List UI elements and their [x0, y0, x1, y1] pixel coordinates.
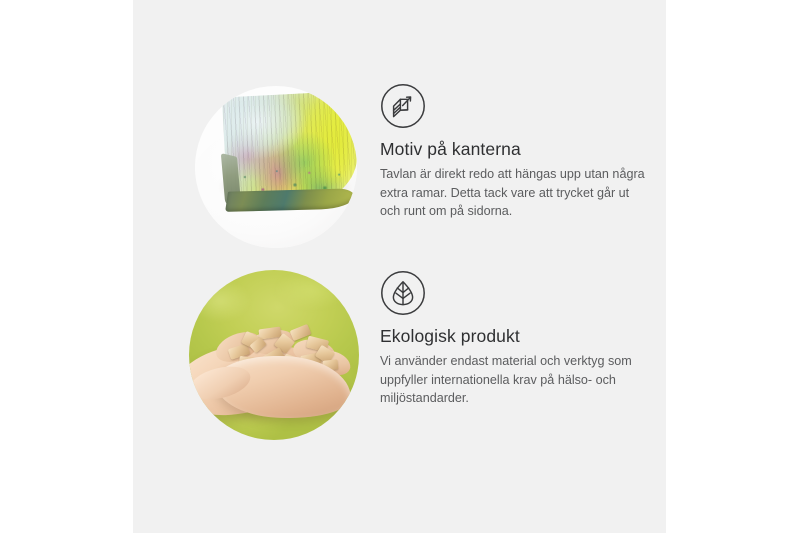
feature-1-title: Motiv på kanterna: [380, 139, 658, 160]
feature-2-text-column: Ekologisk produkt Vi använder endast mat…: [380, 270, 658, 408]
canvas-print-image: [195, 86, 357, 248]
eco-hands-image: [189, 270, 359, 440]
feature-2-body: Vi använder endast material och verktyg …: [380, 352, 652, 408]
leaf-icon: [380, 270, 426, 316]
canvas-wrapped-edge-icon: [380, 83, 426, 129]
feature-block-ekologisk-produkt: Ekologisk produkt Vi använder endast mat…: [133, 270, 666, 435]
canvas-print-object: [222, 91, 357, 224]
feature-2-title: Ekologisk produkt: [380, 326, 658, 347]
feature-1-text-column: Motiv på kanterna Tavlan är direkt redo …: [380, 83, 658, 221]
content-panel: [133, 0, 666, 533]
canvas-wrapped-edge: [225, 188, 355, 211]
product-feature-page: Motiv på kanterna Tavlan är direkt redo …: [0, 0, 800, 533]
feature-1-body: Tavlan är direkt redo att hängas upp uta…: [380, 165, 652, 221]
feature-block-motiv-pa-kanterna: Motiv på kanterna Tavlan är direkt redo …: [133, 83, 666, 248]
